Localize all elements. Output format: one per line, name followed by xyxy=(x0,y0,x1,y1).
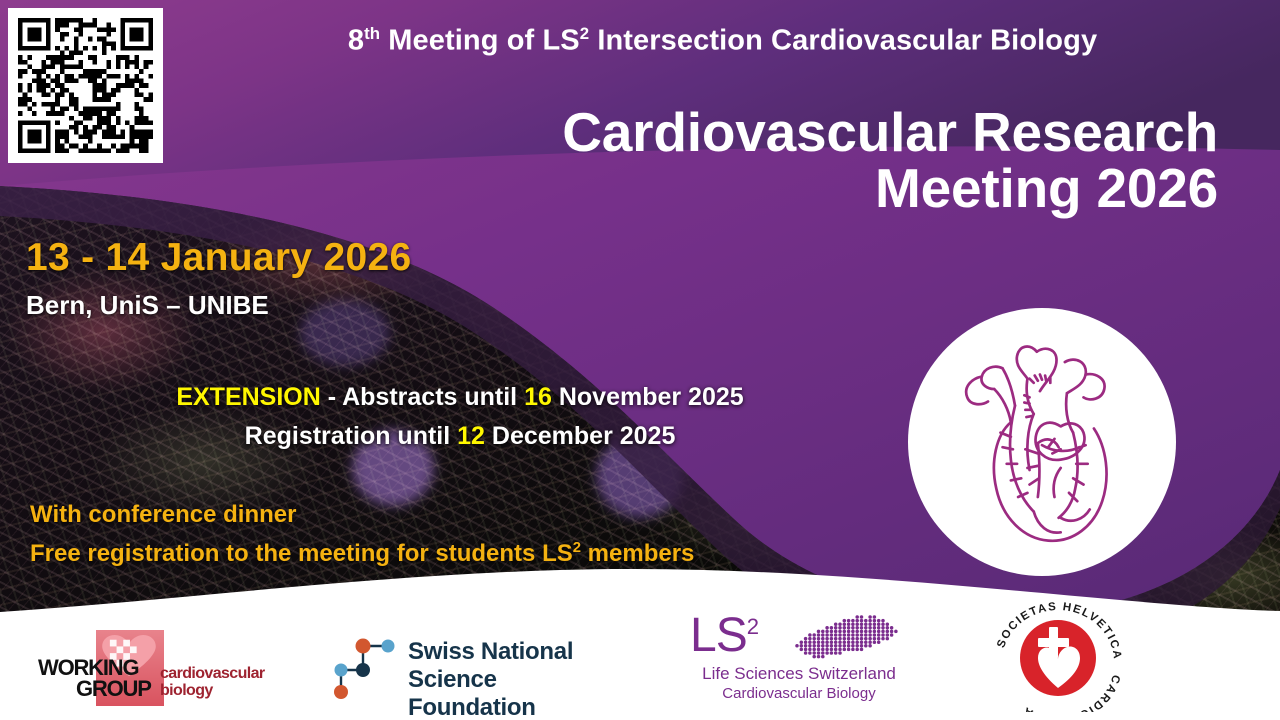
abstracts-day: 16 xyxy=(524,383,552,411)
perk-free-registration: Free registration to the meeting for stu… xyxy=(30,535,694,574)
title-line-1: Cardiovascular Research xyxy=(458,104,1218,160)
perk-dinner: With conference dinner xyxy=(30,496,694,535)
logo-societas-helvetica-cardiologica[interactable]: SOCIETAS HELVETICA CARDIOLOGICA xyxy=(988,600,1128,712)
qr-code[interactable] xyxy=(8,8,163,163)
deadline-registration: Registration until 12 December 2025 xyxy=(0,417,920,456)
registration-month-year: December 2025 xyxy=(485,422,675,450)
working-group-subtitle: cardiovascular biology xyxy=(160,666,265,700)
snsf-line-2: Science Foundation xyxy=(408,666,630,720)
working-group-sub-2: biology xyxy=(160,683,265,700)
snsf-wordmark: Swiss National Science Foundation xyxy=(408,638,630,720)
kicker-suffix: Intersection Cardiovascular Biology xyxy=(589,25,1097,57)
deadline-block: EXTENSION - Abstracts until 16 November … xyxy=(0,378,920,456)
snsf-node-icon xyxy=(330,634,402,702)
perks-block: With conference dinner Free registration… xyxy=(30,496,694,574)
perk-free-text: Free registration to the meeting for stu… xyxy=(30,540,573,567)
abstracts-label: - Abstracts until xyxy=(321,383,524,411)
ls2-wordmark: LS2 xyxy=(690,612,758,660)
logo-working-group-cardiovascular-biology[interactable]: WORKING GROUP cardiovascular biology xyxy=(38,628,268,708)
logo-ls2-life-sciences-switzerland[interactable]: LS2 Life Sciences Switzerland Cardiovasc… xyxy=(690,612,920,710)
snsf-line-1: Swiss National xyxy=(408,638,630,666)
abstracts-month-year: November 2025 xyxy=(552,383,744,411)
kicker-mid: Meeting of LS xyxy=(380,25,580,57)
extension-badge: EXTENSION xyxy=(176,383,320,411)
ls2-mark-text: LS xyxy=(690,609,747,662)
ls2-line-2: Cardiovascular Biology xyxy=(690,686,908,703)
logo-swiss-national-science-foundation[interactable]: Swiss National Science Foundation xyxy=(330,630,630,702)
anatomical-heart-icon xyxy=(938,333,1146,551)
page-title: Cardiovascular Research Meeting 2026 xyxy=(458,104,1218,216)
ls2-mark-superscript: 2 xyxy=(747,614,758,639)
kicker-ordinal: th xyxy=(364,24,380,43)
perk-members-text: members xyxy=(581,540,694,567)
kicker-superscript: 2 xyxy=(580,24,589,43)
sponsor-logo-strip: WORKING GROUP cardiovascular biology xyxy=(0,580,1280,720)
registration-label: Registration until xyxy=(245,422,458,450)
switzerland-dot-map-icon xyxy=(794,614,902,660)
ls2-line-1: Life Sciences Switzerland xyxy=(690,664,908,683)
event-date: 13 - 14 January 2026 xyxy=(26,236,411,280)
registration-day: 12 xyxy=(457,422,485,450)
title-line-2: Meeting 2026 xyxy=(458,160,1218,216)
working-group-sub-1: cardiovascular xyxy=(160,666,265,683)
shc-seal-icon: SOCIETAS HELVETICA CARDIOLOGICA xyxy=(988,600,1128,712)
heart-illustration xyxy=(908,308,1176,576)
kicker-number: 8 xyxy=(348,25,364,57)
deadline-abstracts: EXTENSION - Abstracts until 16 November … xyxy=(0,378,920,417)
qr-code-canvas xyxy=(18,18,153,153)
meeting-kicker: 8th Meeting of LS2 Intersection Cardiova… xyxy=(175,24,1270,58)
perk-superscript: 2 xyxy=(573,540,581,556)
event-venue: Bern, UniS – UNIBE xyxy=(26,290,269,321)
conference-poster: 8th Meeting of LS2 Intersection Cardiova… xyxy=(0,0,1280,720)
